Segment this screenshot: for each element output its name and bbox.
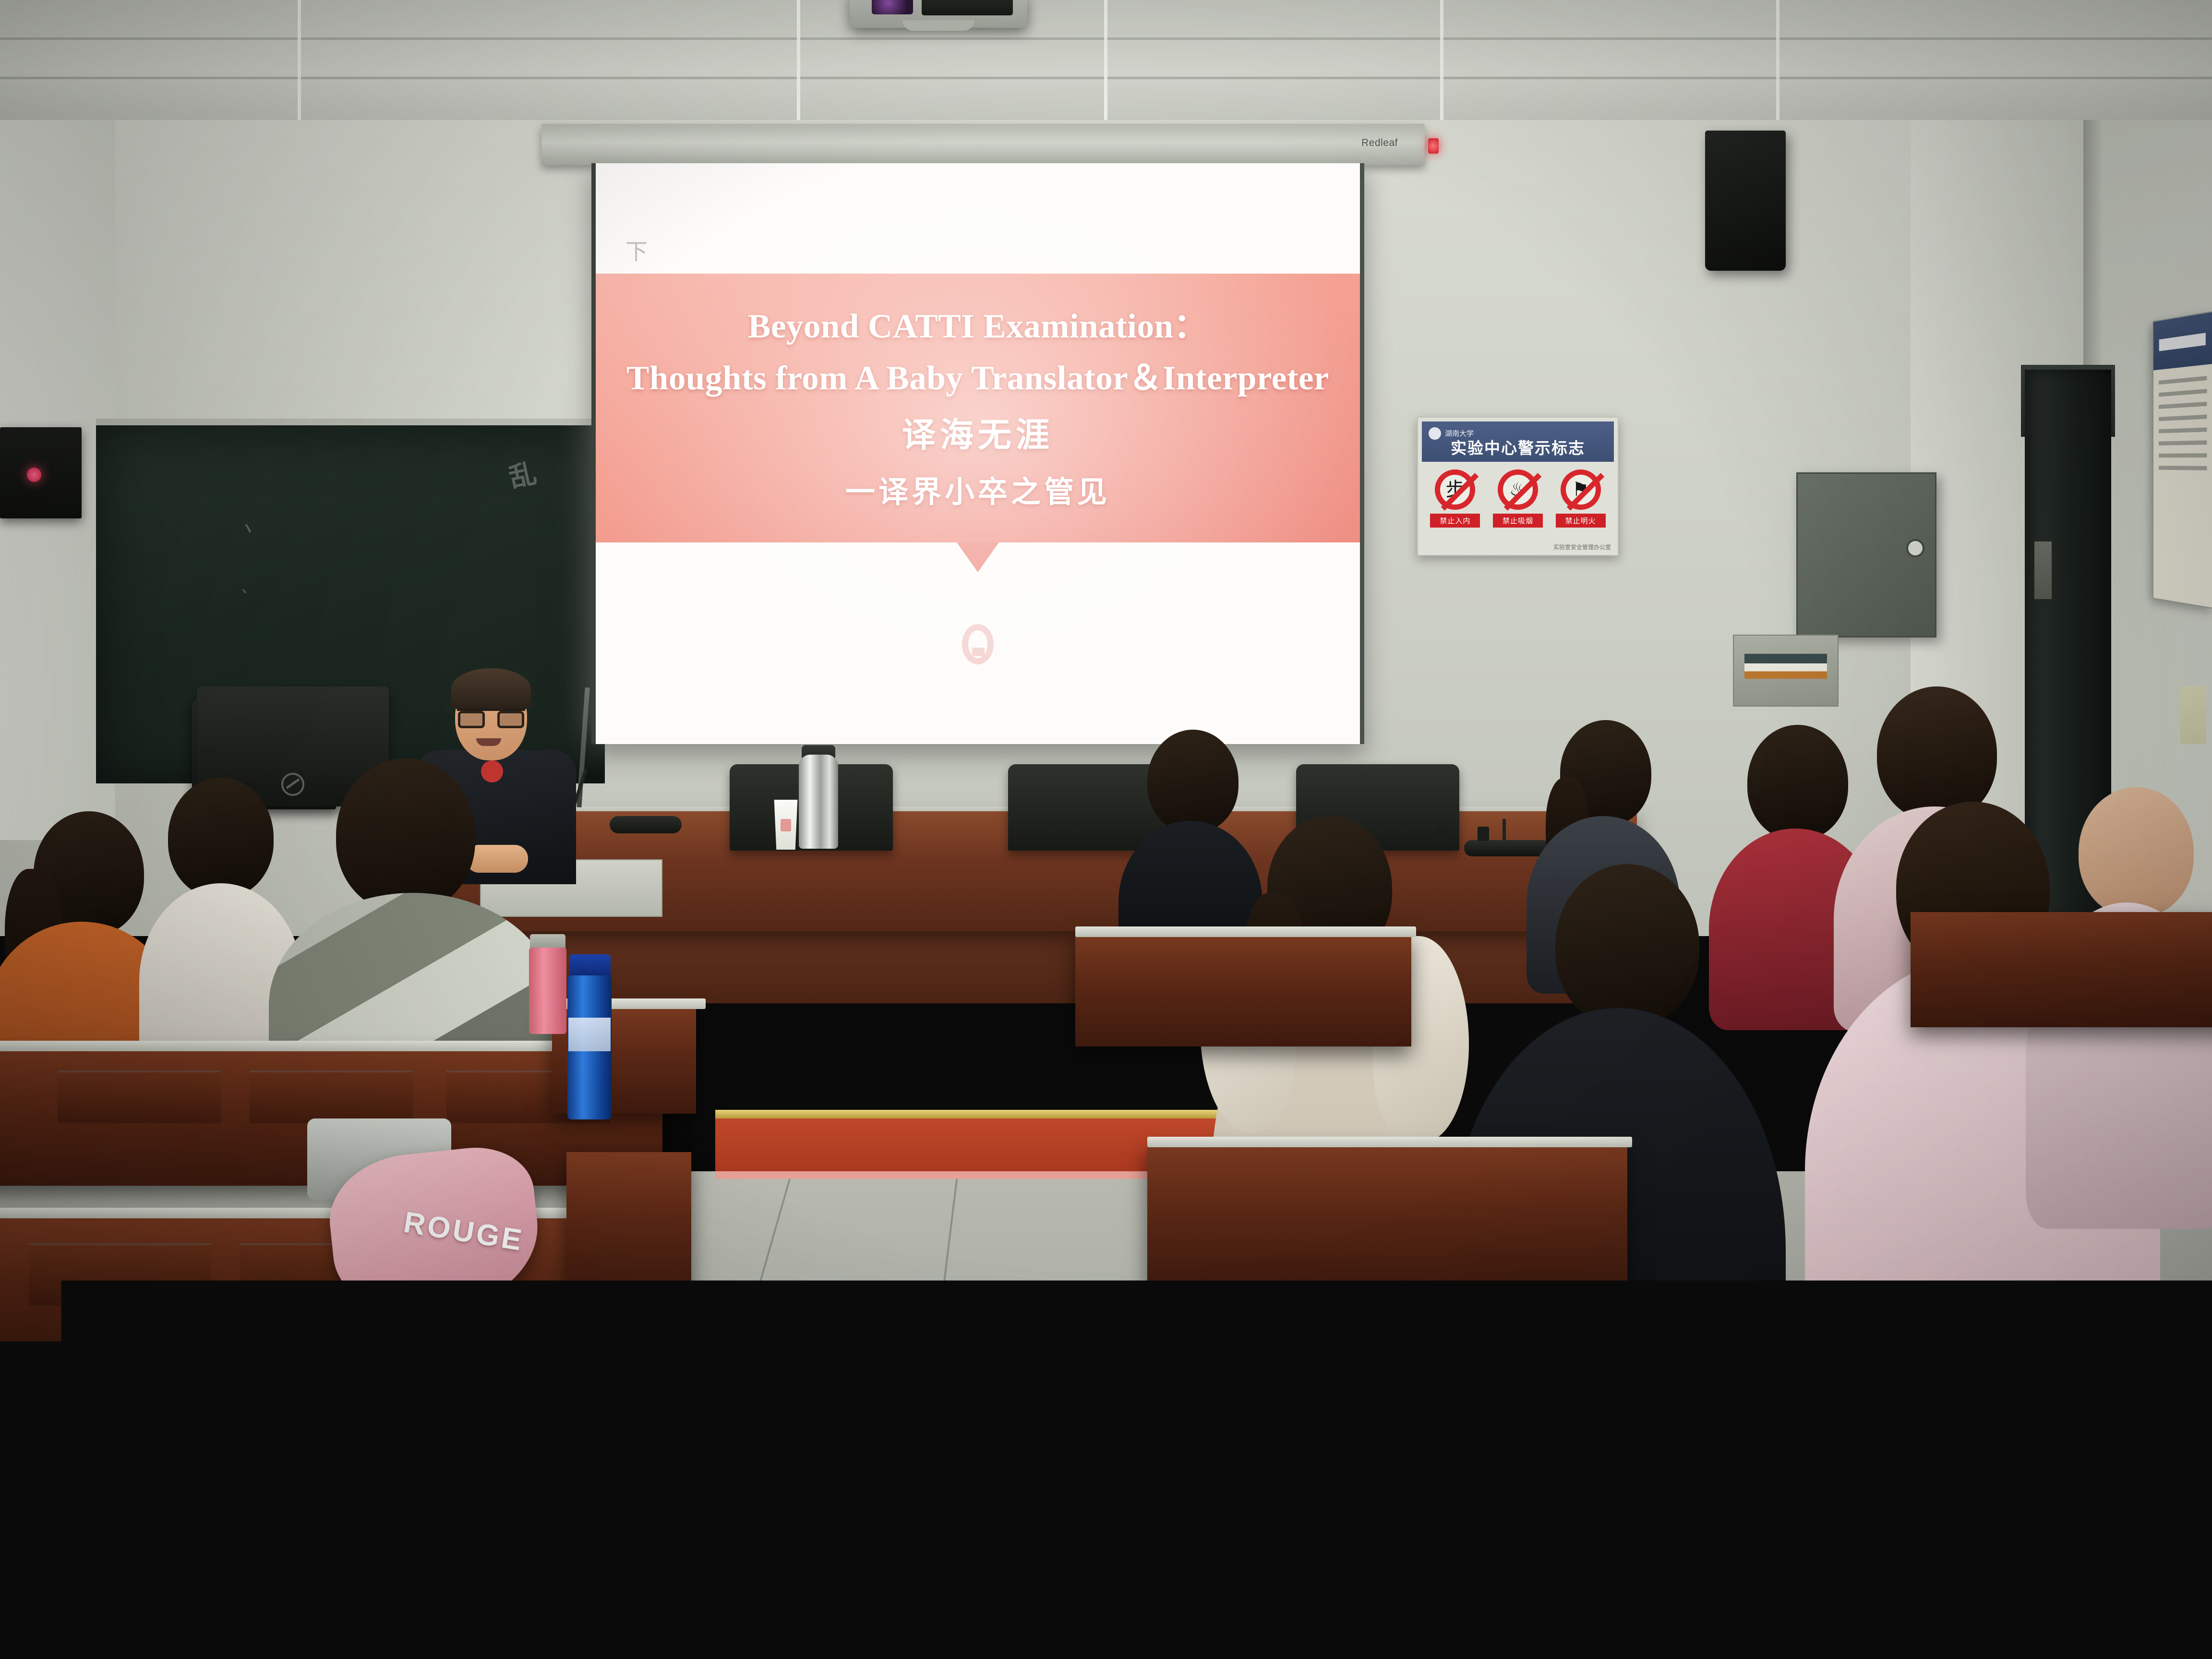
- screen-power-led-icon: [1428, 138, 1439, 154]
- podium-microphone: [610, 816, 682, 833]
- glasses-icon: [457, 709, 525, 726]
- student-desk: [0, 1599, 590, 1659]
- wall-speaker-icon: [1705, 131, 1786, 271]
- prohibition-no-entry: 步 禁止入内: [1430, 469, 1480, 528]
- student-desk: [566, 1152, 691, 1296]
- yellow-thermos-button-icon[interactable]: [1564, 1337, 1591, 1371]
- slide-title-banner: Beyond CATTI Examination： Thoughts from …: [596, 274, 1360, 542]
- chalk-mark: 乱: [505, 452, 540, 495]
- control-knob-icon[interactable]: [1478, 827, 1489, 841]
- desk-surface: [1147, 1137, 1632, 1147]
- desk-surface: [1075, 926, 1416, 937]
- prohibition-label: 禁止明火: [1556, 514, 1606, 528]
- notice-board-text-lines: [2153, 364, 2212, 470]
- safety-sign-header: 湖南大学 实验中心警示标志: [1422, 421, 1614, 462]
- student-desk: [1190, 1334, 2212, 1507]
- lab-safety-sign: 湖南大学 实验中心警示标志 步 禁止入内 ♨ 禁止吸烟 ⚑: [1417, 417, 1619, 556]
- slide-watermark: 下: [625, 234, 648, 266]
- ceiling: [0, 0, 2212, 130]
- projector-lens-icon: [872, 0, 913, 14]
- slide-banner-tail: [957, 542, 999, 572]
- student-desk: [1911, 912, 2212, 1027]
- panel-latch-icon[interactable]: [1908, 541, 1923, 555]
- chalk-mark: 、: [241, 578, 256, 597]
- student-desk: [1075, 931, 1411, 1046]
- electrical-junction-box: [1733, 635, 1839, 707]
- wall-sticker: [2180, 686, 2206, 744]
- pink-thermos: [529, 948, 566, 1034]
- prohibition-label: 禁止吸烟: [1493, 514, 1543, 528]
- utility-access-panel[interactable]: [1796, 472, 1936, 637]
- safety-sign-org: 湖南大学: [1445, 428, 1474, 438]
- chalk-mark: 丶: [237, 515, 260, 542]
- desk-front-panel: [250, 1445, 451, 1517]
- prohibition-label: 禁止入内: [1430, 514, 1480, 528]
- paper-cup-logo: [781, 819, 791, 831]
- yellow-thermos: [1531, 1344, 1618, 1659]
- desk-front-panel: [19, 1445, 221, 1517]
- slide-byline-cn: 一译界小卒之管见: [596, 468, 1360, 511]
- slide-seal-emblem: [962, 624, 994, 664]
- wall-notice-board: [2152, 311, 2212, 609]
- projection-screen: 下 Beyond CATTI Examination： Thoughts fro…: [591, 163, 1364, 744]
- safety-sign-footer: 实验室安全管理办公室: [1553, 543, 1611, 551]
- safety-sign-title: 实验中心警示标志: [1451, 435, 1585, 458]
- door-frame-mark: [2034, 541, 2052, 599]
- desk-front-panel: [29, 1243, 211, 1306]
- steel-thermos: [799, 755, 838, 849]
- slide-title-line-1: Beyond CATTI Examination：: [596, 299, 1360, 348]
- classroom-photo: 乱 丶 、 Redleaf 下 Beyond CATTI Examination…: [0, 0, 2212, 1659]
- notice-board-title-bar: [2159, 333, 2206, 351]
- slide-subtitle-cn: 译海无涯: [596, 408, 1360, 457]
- prohibition-symbol-row: 步 禁止入内 ♨ 禁止吸烟 ⚑ 禁止明火: [1424, 469, 1612, 528]
- desk-front-panel: [58, 1070, 221, 1123]
- university-logo-icon: [1429, 427, 1441, 440]
- student-desk: [1147, 1142, 1627, 1286]
- presenter-mouth: [476, 738, 501, 746]
- blue-bottle-label: [568, 1018, 611, 1051]
- projector-mount: [902, 20, 974, 31]
- prohibition-no-smoking: ♨ 禁止吸烟: [1493, 469, 1543, 528]
- slide-title-line-2: Thoughts from A Baby Translator＆Interpre…: [596, 350, 1360, 399]
- presenter-hair: [451, 668, 531, 709]
- wall-led-indicator-box: [0, 427, 82, 518]
- projection-screen-housing: Redleaf: [541, 124, 1425, 165]
- prohibition-no-flame: ⚑ 禁止明火: [1556, 469, 1606, 528]
- screen-brand-label: Redleaf: [1361, 137, 1398, 149]
- backpack: [1238, 1527, 1488, 1659]
- junction-box-wires: [1744, 654, 1827, 679]
- desk-surface: [1190, 1328, 2212, 1338]
- shoe: [1027, 1392, 1142, 1445]
- desk-surface: [0, 1404, 576, 1414]
- projector-body: [922, 0, 1013, 15]
- notice-board-header: [2153, 312, 2212, 370]
- led-indicator-icon: [27, 468, 41, 482]
- desk-front-panel: [250, 1070, 413, 1123]
- control-knob-icon[interactable]: [1437, 827, 1449, 841]
